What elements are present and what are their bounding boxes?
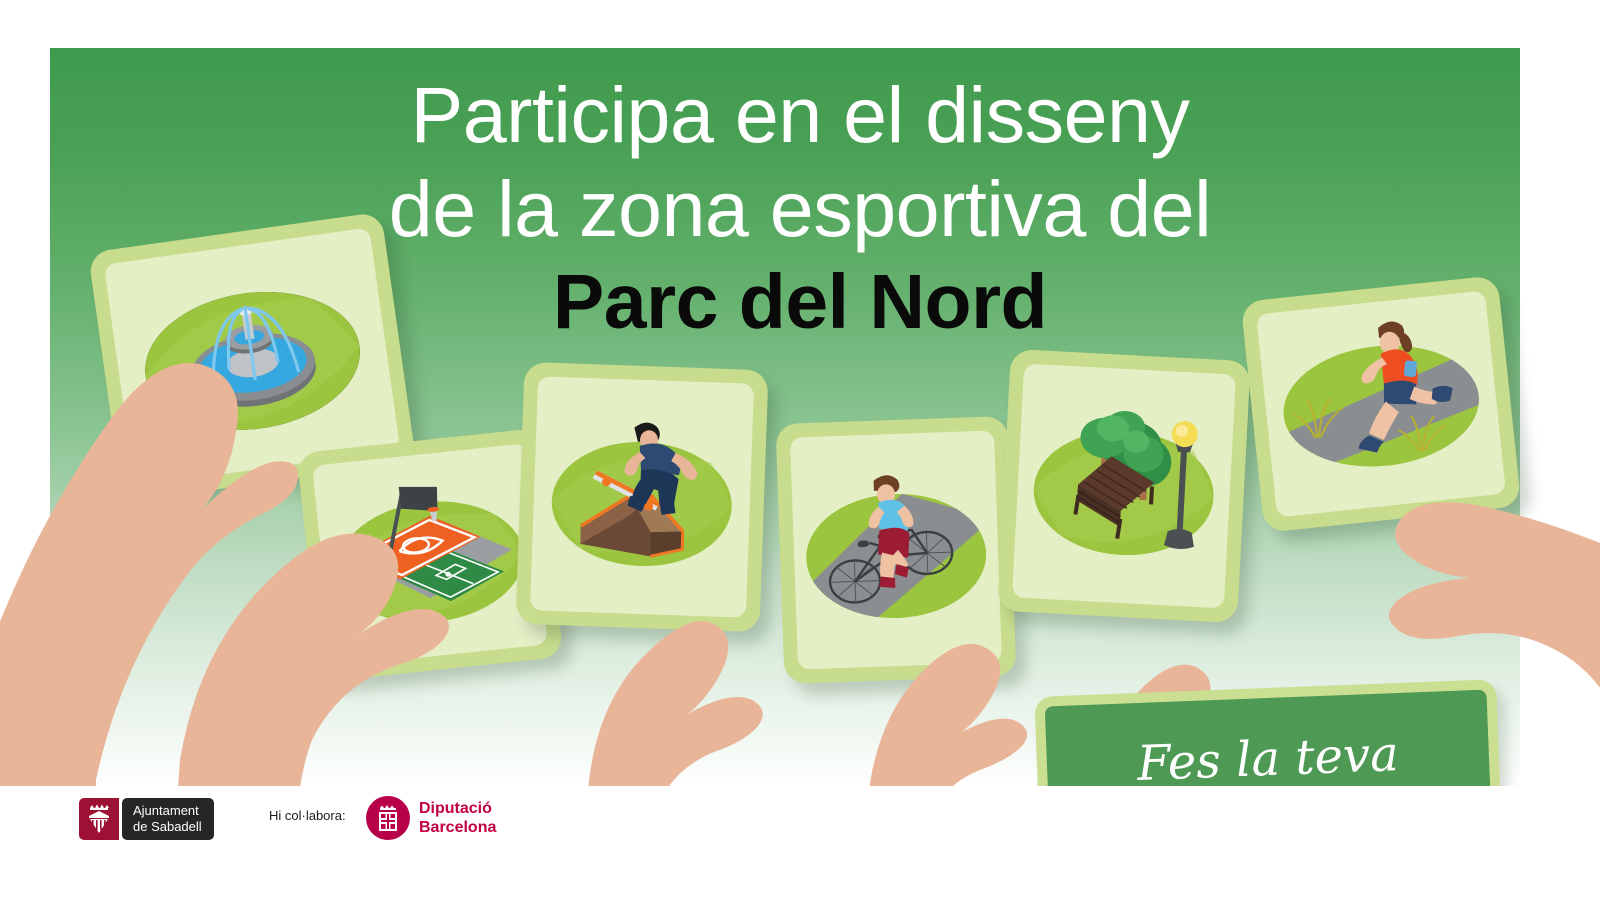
cyclist-icon — [790, 431, 1002, 670]
card-bike-face — [790, 431, 1002, 670]
sports-court-icon — [312, 443, 548, 666]
sabadell-line-2: de Sabadell — [133, 819, 202, 835]
card-skate[interactable] — [516, 362, 769, 632]
card-sports-court-face — [312, 443, 548, 666]
diputacio-name: Diputació Barcelona — [419, 799, 496, 837]
logo-diputacio-barcelona[interactable]: Diputació Barcelona — [366, 796, 496, 840]
card-runner-face — [1256, 291, 1506, 518]
park-bench-icon — [1012, 364, 1236, 609]
logo-ajuntament-sabadell[interactable]: Ajuntament de Sabadell — [79, 798, 214, 840]
campaign-banner: Participa en el disseny de la zona espor… — [0, 0, 1600, 900]
card-bench-face — [1012, 364, 1236, 609]
footer-logos: Ajuntament de Sabadell Hi col·labora: — [0, 786, 1600, 900]
skateboarder-icon — [530, 376, 754, 617]
sabadell-line-1: Ajuntament — [133, 803, 202, 819]
diputacio-line-2: Barcelona — [419, 818, 496, 837]
collaborate-label: Hi col·labora: — [269, 808, 346, 823]
card-runner[interactable] — [1241, 275, 1522, 533]
runner-icon — [1256, 291, 1506, 518]
card-skate-face — [530, 376, 754, 617]
sabadell-crest-icon — [79, 798, 119, 840]
sabadell-name: Ajuntament de Sabadell — [122, 798, 214, 840]
cta-line-1: Fes la teva — [1136, 726, 1400, 792]
card-bench[interactable] — [997, 349, 1250, 623]
card-bike[interactable] — [776, 416, 1017, 684]
diputacio-crest-icon — [366, 796, 410, 840]
diputacio-line-1: Diputació — [419, 799, 496, 818]
